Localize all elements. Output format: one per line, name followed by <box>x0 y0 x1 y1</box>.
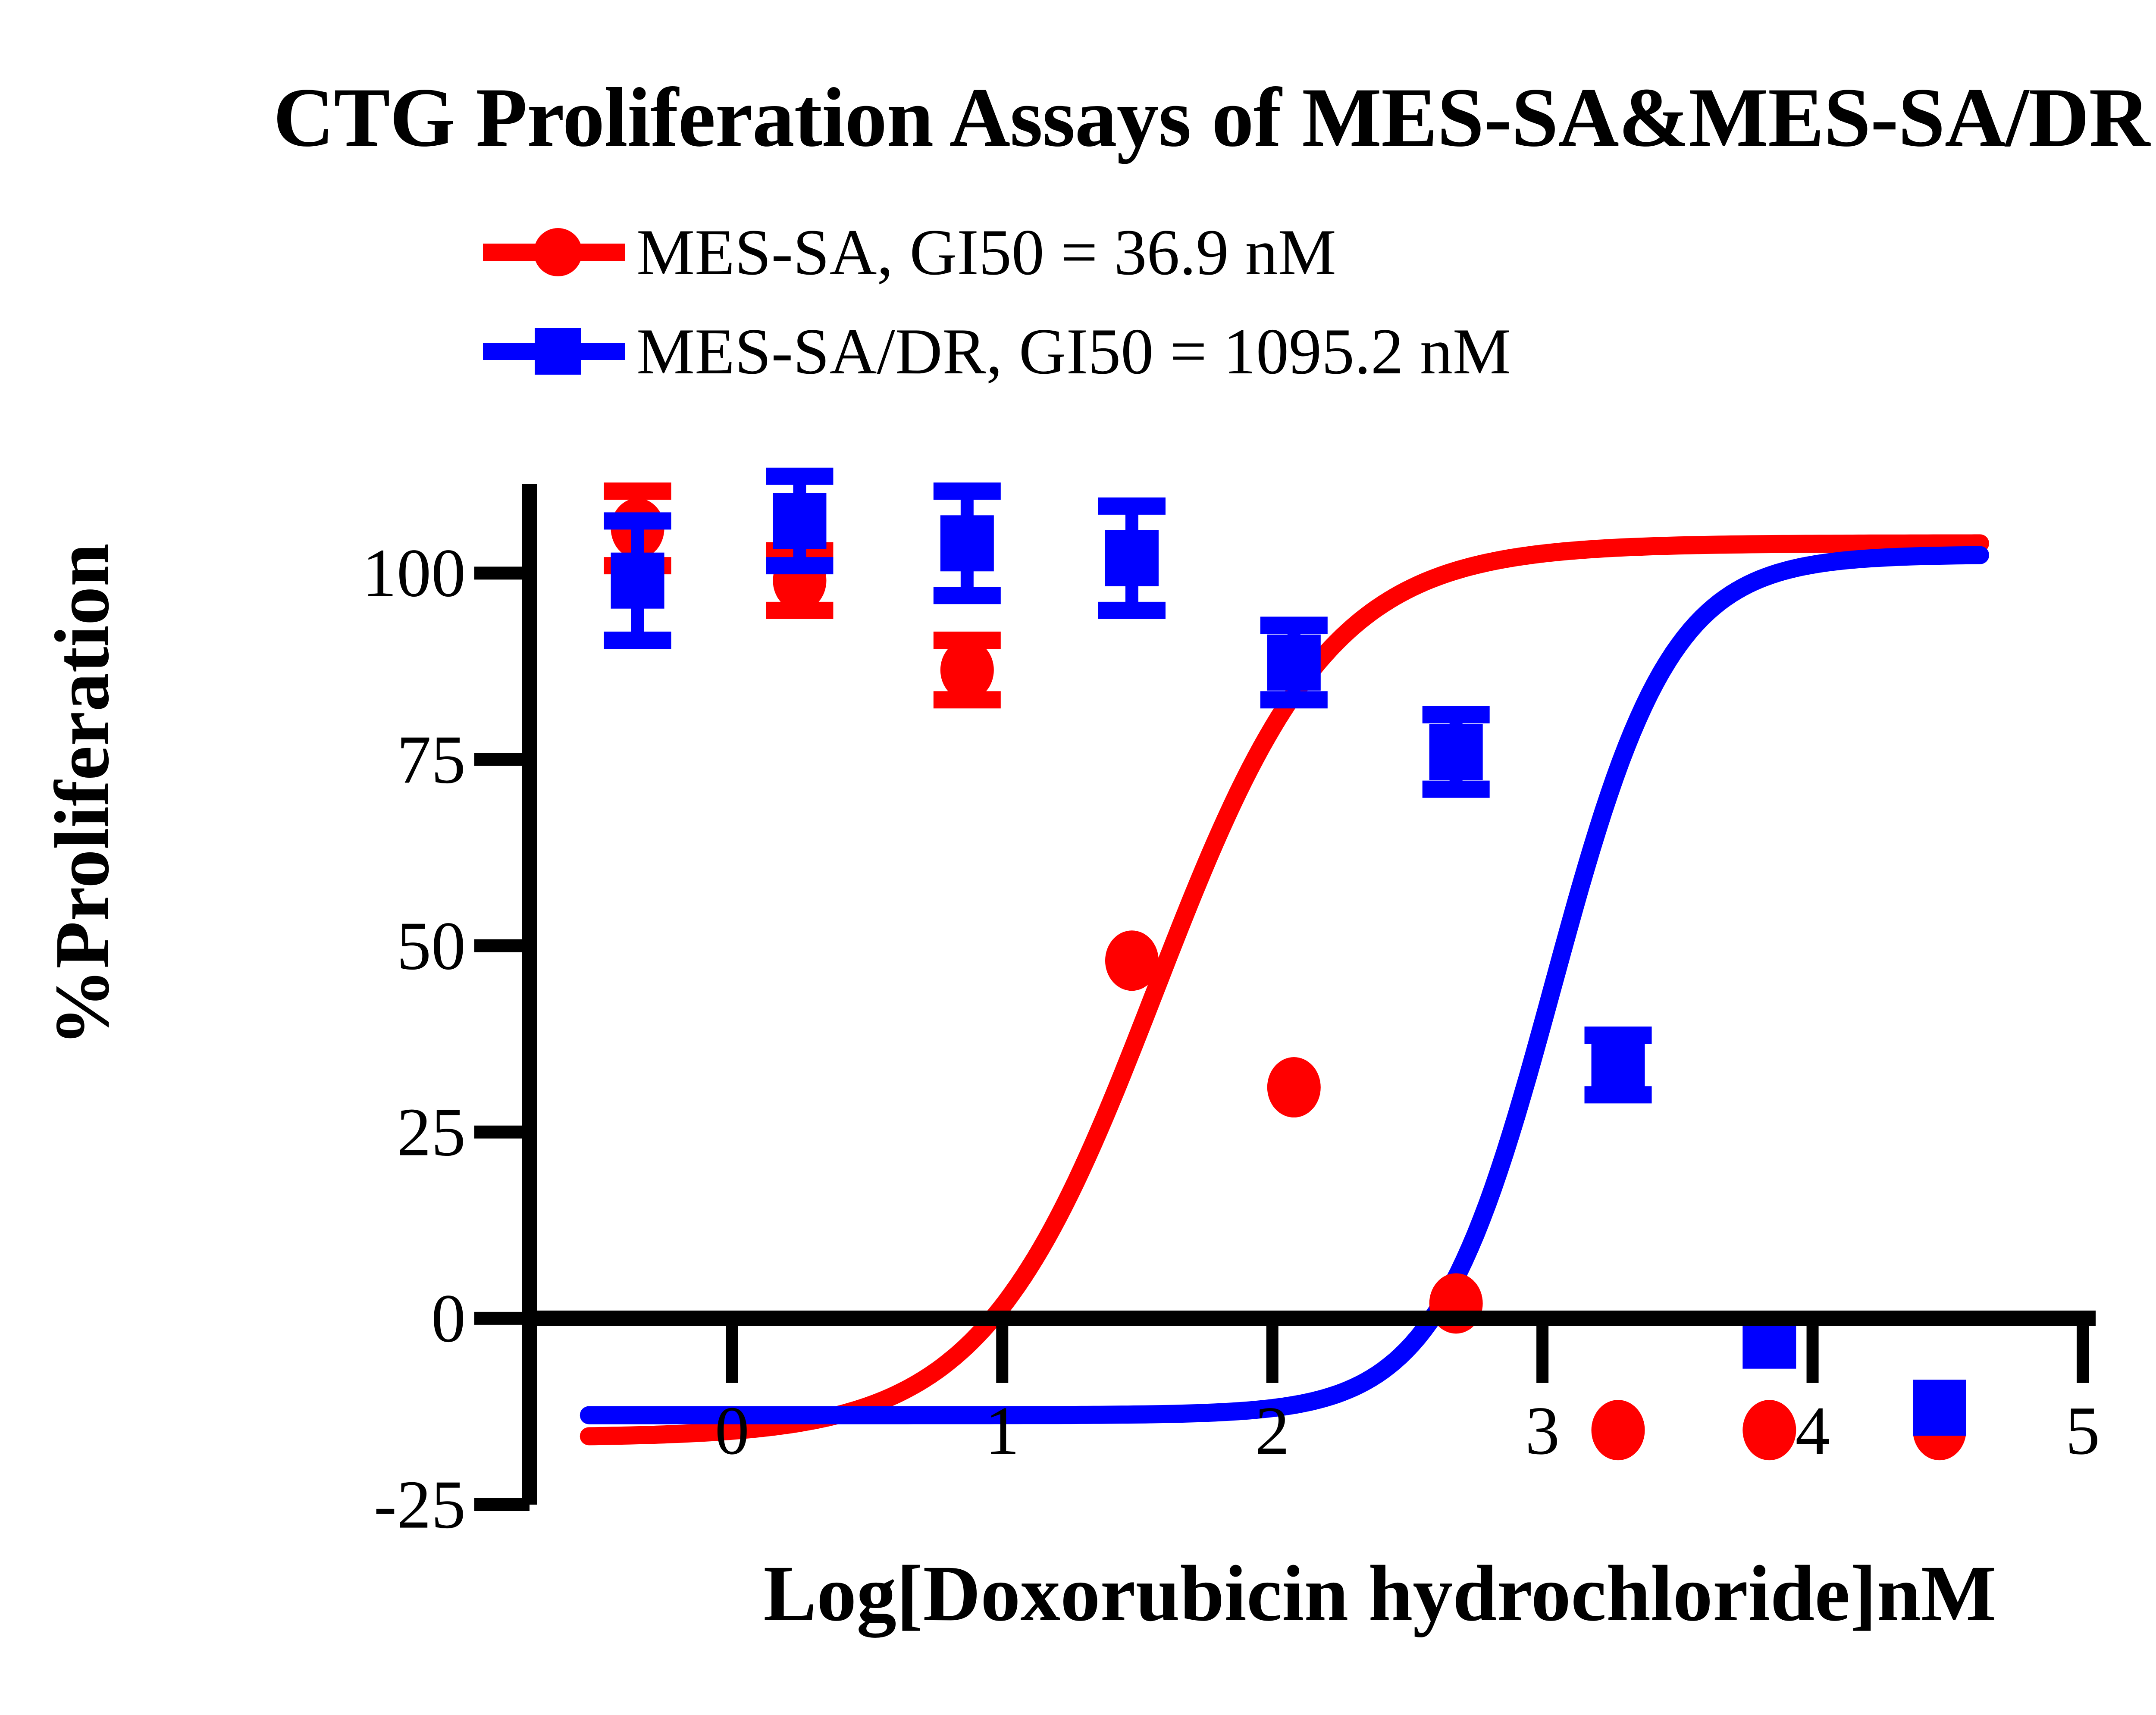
data-point-square[interactable] <box>1913 1380 1966 1436</box>
data-point-square[interactable] <box>1267 635 1321 691</box>
x-axis-title: Log[Doxorubicin hydrochloride]nM <box>453 1548 2156 1640</box>
figure-canvas: CTG Proliferation Assays of MES-SA&MES-S… <box>0 0 2156 1715</box>
x-tick-label: 1 <box>985 1391 1019 1471</box>
data-point-circle[interactable] <box>1267 1057 1321 1117</box>
data-point-square[interactable] <box>1592 1037 1645 1093</box>
y-tick-label: 0 <box>207 1278 466 1358</box>
data-point-square[interactable] <box>773 493 826 549</box>
y-tick-label: 100 <box>207 533 466 613</box>
x-tick-label: 5 <box>2065 1391 2100 1471</box>
y-axis-title: %Proliferation <box>38 450 127 1140</box>
y-tick-label: 25 <box>207 1092 466 1172</box>
plot-area: 1007550250-25 012345 <box>0 0 2156 1715</box>
data-point-circle[interactable] <box>1592 1400 1645 1460</box>
data-point-circle[interactable] <box>940 640 994 700</box>
data-point-square[interactable] <box>611 553 664 609</box>
y-tick-label: 50 <box>207 906 466 986</box>
data-point-circle[interactable] <box>1742 1400 1796 1460</box>
x-tick-label: 4 <box>1796 1391 1830 1471</box>
x-tick-label: 3 <box>1525 1391 1560 1471</box>
y-tick-label: 75 <box>207 720 466 799</box>
y-tick-label: -25 <box>207 1465 466 1545</box>
x-tick-label: 2 <box>1255 1391 1290 1471</box>
plot-svg <box>0 0 2156 1715</box>
data-point-circle[interactable] <box>1105 930 1159 991</box>
data-point-square[interactable] <box>1429 724 1483 780</box>
data-point-square[interactable] <box>940 515 994 571</box>
series-1 <box>604 476 1966 1436</box>
x-tick-label: 0 <box>715 1391 749 1471</box>
data-point-square[interactable] <box>1105 530 1159 586</box>
